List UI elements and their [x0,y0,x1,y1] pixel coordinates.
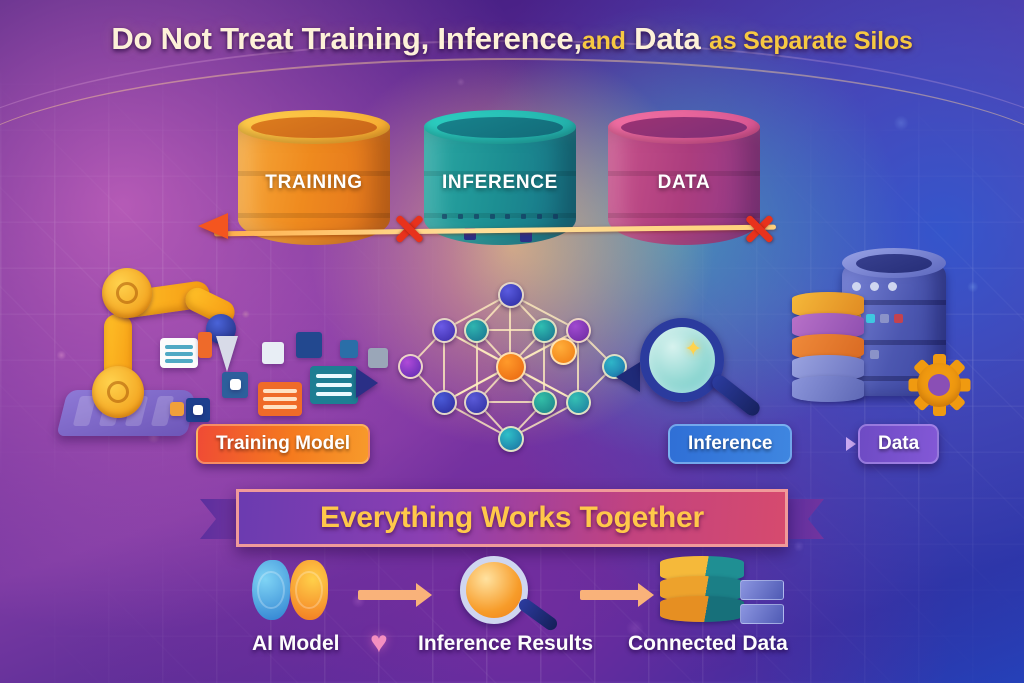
decor-chip [262,342,284,364]
network-node [398,354,423,379]
sparkle-icon: ✦ [684,336,702,362]
server-blocks-icon [740,580,784,626]
decor-chip [230,379,241,390]
cylinder-opening [621,117,747,138]
magnifying-glass-icon [460,556,560,626]
silo-label-training: TRAINING [238,172,390,194]
silo-label-inference: INFERENCE [424,172,576,194]
banner-text: Everything Works Together [320,501,704,535]
database-stack-icon [660,556,744,626]
network-node [532,318,557,343]
robot-pen-tip-icon [216,336,238,372]
document-card [258,382,302,416]
label-data[interactable]: Data [858,424,939,464]
brain-right-hemisphere [290,560,328,620]
silo-label-data: DATA [608,172,760,194]
neural-network-icon [392,282,632,450]
network-node [498,426,524,452]
decor-chip [170,402,184,416]
magnifier-handle [709,372,762,418]
right-arrow-icon [356,368,378,398]
right-arrow-icon [580,590,640,600]
red-x-icon [392,212,426,246]
left-arrow-icon [198,213,228,239]
label-inference[interactable]: Inference [668,424,792,464]
right-arrow-icon [358,590,418,600]
magnifying-glass-icon: ✦ [636,318,766,438]
bottom-label-inference-results: Inference Results [418,632,593,656]
decor-chip [296,332,322,358]
network-node [464,390,489,415]
mini-database-stack [792,292,864,397]
decor-chip [368,348,388,368]
decor-chip [198,332,212,358]
robot-elbow-joint [92,366,144,418]
magnifier-lens [640,318,724,402]
title-part-4: as Separate Silos [709,27,913,55]
brain-icon [252,560,328,620]
page-title: Do Not Treat Training, Inference,and Dat… [0,22,1024,56]
network-node [464,318,489,343]
banner-everything-works-together: Everything Works Together [236,489,788,547]
robot-shoulder-joint [102,268,152,318]
title-part-1: Do Not Treat Training, Inference, [111,21,582,56]
network-node [432,318,457,343]
pill-arrow-icon [846,437,856,451]
decor-chip [193,405,203,415]
label-training-model[interactable]: Training Model [196,424,370,464]
infographic-poster: Do Not Treat Training, Inference,and Dat… [0,0,1024,683]
network-node [532,390,557,415]
cylinder-opening [437,117,563,138]
network-node [498,282,524,308]
network-node [566,390,591,415]
bottom-label-connected-data: Connected Data [628,632,788,656]
server-top-inner [856,254,932,273]
network-node [550,338,577,365]
title-part-3: Data [634,21,700,56]
cylinder-opening [251,117,377,138]
title-part-2: and [582,27,626,55]
document-card [310,366,358,404]
document-card [160,338,198,368]
status-dots [442,214,558,219]
server-stack-icon [790,258,980,444]
network-node-center [496,352,526,382]
brain-left-hemisphere [252,560,290,620]
red-x-icon [742,212,776,246]
gear-icon [908,354,970,416]
heart-icon: ♥ [370,626,388,660]
network-node [432,390,457,415]
magnifier-lens [460,556,528,624]
decor-chip [340,340,358,358]
bottom-label-ai-model: AI Model [252,632,340,656]
